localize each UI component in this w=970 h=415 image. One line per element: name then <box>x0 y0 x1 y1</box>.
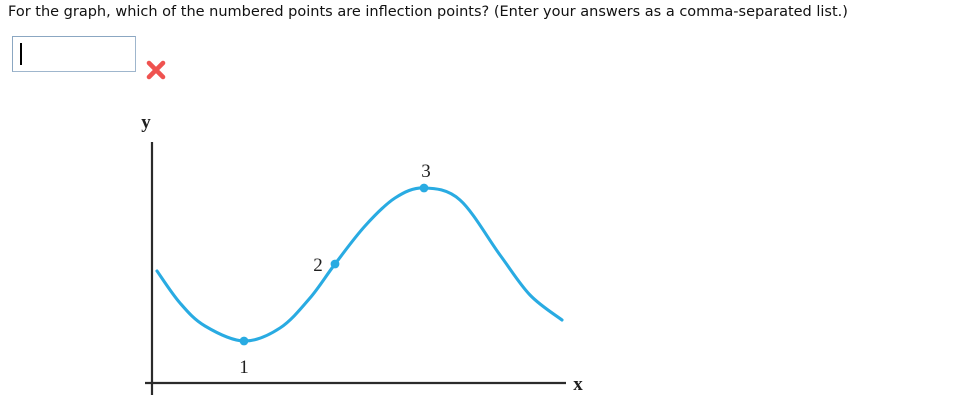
x-axis-label: x <box>573 374 583 395</box>
answer-row <box>12 36 136 72</box>
graph-figure: y x 1 2 3 <box>0 95 620 415</box>
question-text: For the graph, which of the numbered poi… <box>8 3 848 22</box>
function-curve <box>157 188 562 341</box>
point-marker-1 <box>240 337 249 346</box>
point-label-2: 2 <box>313 255 323 276</box>
point-marker-3 <box>420 184 429 193</box>
point-label-1: 1 <box>239 357 249 378</box>
point-marker-2 <box>331 260 340 269</box>
answer-input[interactable] <box>12 36 136 72</box>
point-label-3: 3 <box>421 161 431 182</box>
text-caret <box>20 43 22 65</box>
y-axis-label: y <box>141 112 151 133</box>
labeled-point-1: 1 <box>239 337 249 378</box>
labeled-point-2: 2 <box>313 255 339 276</box>
x-mark-incorrect-icon <box>144 58 168 82</box>
graph-canvas: y x 1 2 3 <box>0 95 620 415</box>
